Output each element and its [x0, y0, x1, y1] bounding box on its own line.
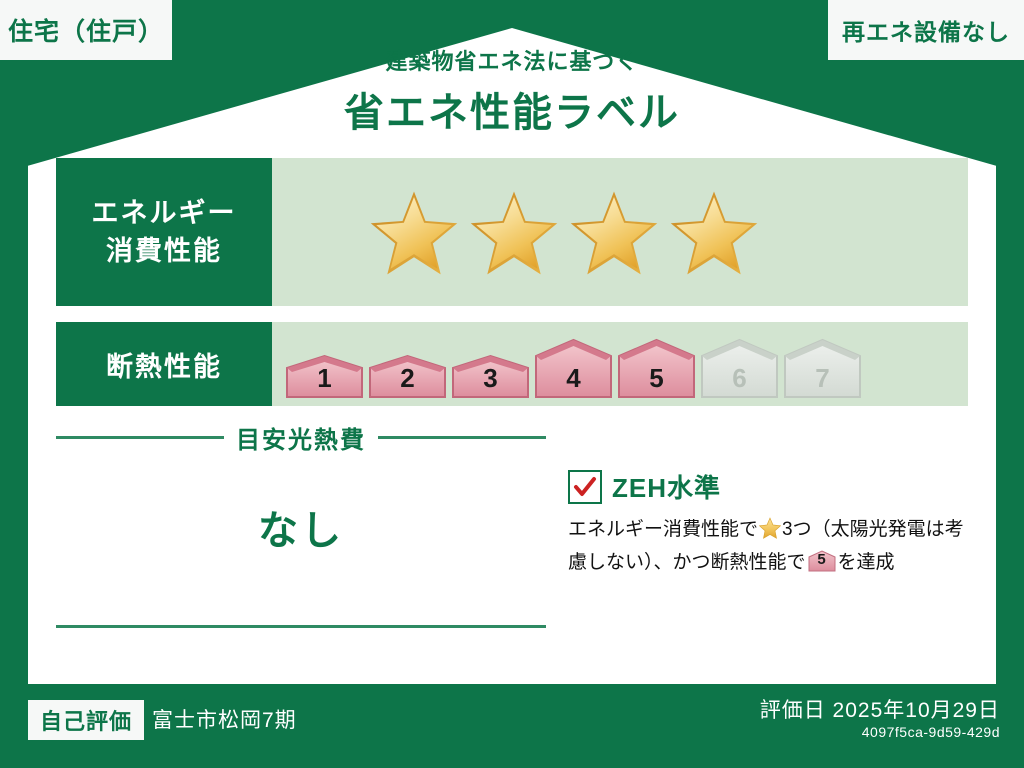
star-icon	[668, 187, 760, 277]
insulation-level-number: 4	[566, 363, 580, 398]
star-icon	[568, 187, 660, 277]
zeh-title: ZEH水準	[612, 468, 721, 505]
star-icon-inline	[759, 517, 781, 548]
insulation-level-number: 6	[732, 363, 746, 398]
insulation-performance-label: 断熱性能	[56, 322, 272, 406]
insulation-level-2: 2	[368, 354, 447, 398]
title-subtitle: 建築物省エネ法に基づく	[0, 44, 1024, 76]
self-evaluation-badge: 自己評価	[28, 700, 144, 740]
energy-label-poster: 住宅（住戸） 再エネ設備なし 建築物省エネ法に基づく 省エネ性能ラベル エネルギ…	[0, 0, 1024, 768]
check-icon	[573, 475, 597, 499]
divider-left	[56, 436, 224, 439]
insulation-badge-inline-number: 5	[808, 550, 836, 572]
energy-performance-body	[272, 158, 968, 306]
insulation-badge-inline: 5	[808, 550, 836, 572]
zeh-desc-part1: エネルギー消費性能で	[568, 519, 758, 540]
insulation-performance-row: 断熱性能 1234567	[56, 322, 968, 406]
insulation-level-7: 7	[783, 338, 862, 398]
utility-cost-title: 目安光熱費	[236, 420, 366, 455]
evaluation-id: 4097f5ca-9d59-429d	[862, 724, 1000, 740]
insulation-level-number: 5	[649, 363, 663, 398]
insulation-level-4: 4	[534, 338, 613, 398]
building-name: 富士市松岡7期	[152, 704, 297, 734]
title-block: 建築物省エネ法に基づく 省エネ性能ラベル	[0, 44, 1024, 138]
divider-right	[378, 436, 546, 439]
star-icon	[468, 187, 560, 277]
star-rating	[368, 187, 760, 277]
insulation-level-number: 3	[483, 363, 497, 398]
energy-label-line1: エネルギー	[92, 194, 237, 232]
evaluation-date: 評価日 2025年10月29日	[760, 694, 1000, 724]
insulation-level-6: 6	[700, 338, 779, 398]
page-title: 省エネ性能ラベル	[0, 80, 1024, 138]
insulation-level-1: 1	[285, 354, 364, 398]
utility-cost-footer-line	[56, 625, 546, 628]
energy-label-line2: 消費性能	[106, 232, 222, 270]
insulation-level-number: 7	[815, 363, 829, 398]
lower-section: 目安光熱費 なし ZEH水準 エネルギー消費性能で3つ（太陽光発電は考慮しない）…	[56, 420, 968, 650]
star-icon	[368, 187, 460, 277]
zeh-description: エネルギー消費性能で3つ（太陽光発電は考慮しない）、かつ断熱性能で5を達成	[568, 515, 968, 578]
zeh-checkbox[interactable]	[568, 470, 602, 504]
insulation-level-5: 5	[617, 338, 696, 398]
energy-performance-row: エネルギー 消費性能	[56, 158, 968, 306]
energy-performance-label: エネルギー 消費性能	[56, 158, 272, 306]
utility-cost-header: 目安光熱費	[56, 420, 546, 455]
zeh-block: ZEH水準 エネルギー消費性能で3つ（太陽光発電は考慮しない）、かつ断熱性能で5…	[568, 468, 968, 578]
utility-cost-value: なし	[56, 498, 546, 556]
insulation-level-number: 1	[317, 363, 331, 398]
insulation-level-scale: 1234567	[285, 322, 862, 406]
insulation-level-number: 2	[400, 363, 414, 398]
insulation-level-3: 3	[451, 354, 530, 398]
zeh-header: ZEH水準	[568, 468, 968, 505]
insulation-performance-body: 1234567	[272, 322, 968, 406]
footer: 自己評価 富士市松岡7期 評価日 2025年10月29日 4097f5ca-9d…	[0, 684, 1024, 768]
zeh-desc-part3: を達成	[838, 552, 895, 573]
